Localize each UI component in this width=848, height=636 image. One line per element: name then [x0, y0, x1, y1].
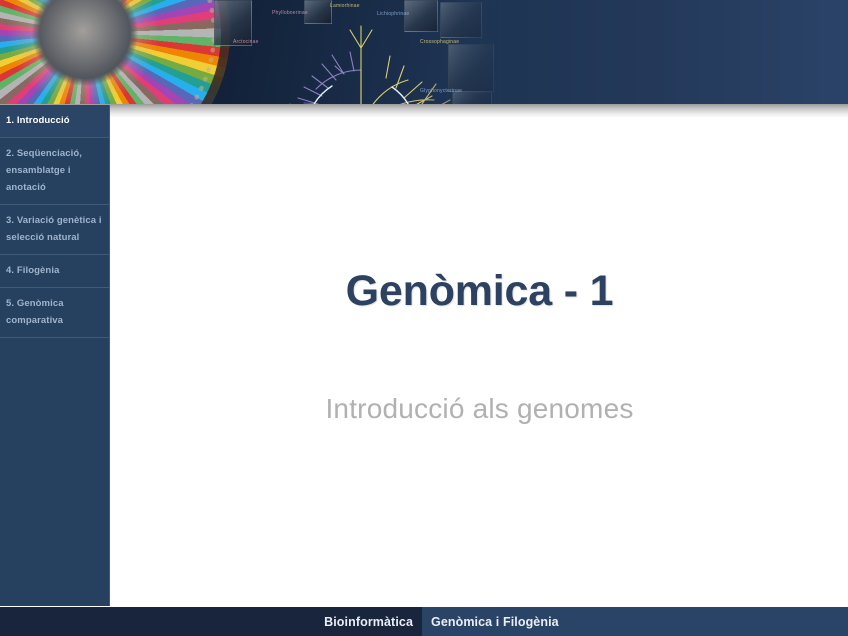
banner-taxon-label: Glyphonycterinae — [420, 88, 462, 94]
header-divider-gradient — [0, 104, 848, 118]
sidebar-item-label: 2. Seqüenciació, ensamblatge i anotació — [6, 148, 82, 193]
banner-taxon-label: Phylloboerinae — [272, 10, 308, 16]
sidebar-item-1[interactable]: 1. Introducció — [0, 105, 109, 138]
sidebar-item-3[interactable]: 3. Variació genètica i selecció natural — [0, 205, 109, 255]
sidebar-navigation[interactable]: 1. Introducció2. Seqüenciació, ensamblat… — [0, 105, 110, 606]
footer-topic-label: Genòmica i Filogènia — [431, 615, 559, 629]
sidebar-item-2[interactable]: 2. Seqüenciació, ensamblatge i anotació — [0, 138, 109, 205]
sidebar-item-label: 4. Filogènia — [6, 265, 59, 276]
page-subtitle: Introducció als genomes — [111, 393, 848, 425]
banner-right-fade — [420, 0, 848, 104]
footer-course-label: Bioinformàtica — [324, 615, 413, 629]
sidebar-item-5[interactable]: 5. Genòmica comparativa — [0, 288, 109, 338]
page-title: Genòmica - 1 — [111, 267, 848, 316]
footer-course-segment: Bioinformàtica — [0, 607, 422, 636]
slide-canvas: PhylloboerinaeLamiorhinaeLichiophrinaeCr… — [0, 0, 848, 636]
sidebar-item-label: 1. Introducció — [6, 115, 70, 126]
banner-taxon-label: Arctocinae — [233, 39, 259, 45]
sidebar-item-label: 5. Genòmica comparativa — [6, 298, 64, 326]
banner-taxon-label: Crossophaginae — [420, 39, 459, 45]
sidebar-item-label: 3. Variació genètica i selecció natural — [6, 215, 102, 243]
slide-footer: Bioinformàtica Genòmica i Filogènia — [0, 607, 848, 636]
banner-taxon-label: Lichiophrinae — [377, 11, 409, 17]
sidebar-item-4[interactable]: 4. Filogènia — [0, 255, 109, 288]
banner-taxon-label: Lamiorhinae — [330, 3, 360, 9]
footer-topic-segment: Genòmica i Filogènia — [422, 607, 848, 636]
header-banner-image: PhylloboerinaeLamiorhinaeLichiophrinaeCr… — [0, 0, 848, 104]
slide-content: Genòmica - 1 Introducció als genomes — [111, 118, 848, 606]
